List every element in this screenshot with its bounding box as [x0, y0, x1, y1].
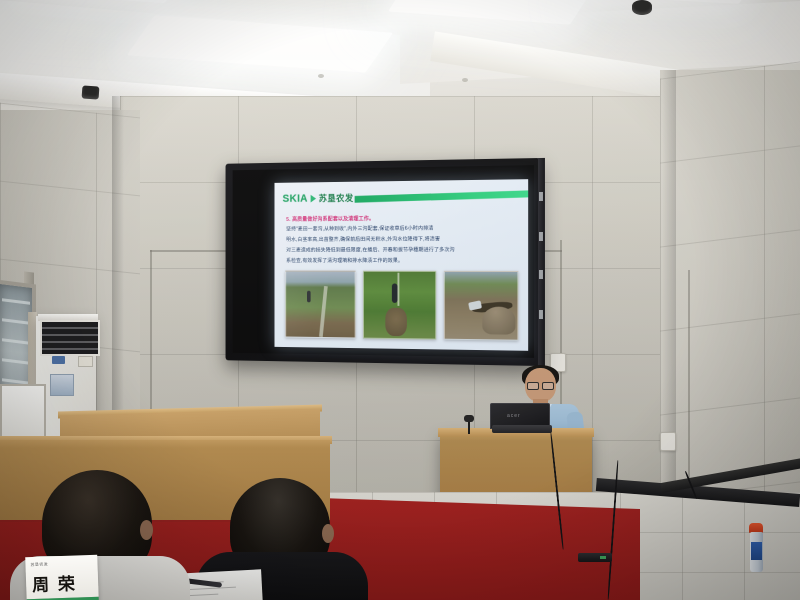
ceiling-fixture-dot [462, 78, 468, 82]
ceiling-fixture-dot [318, 74, 324, 78]
display-edge-highlight [539, 232, 543, 241]
ceiling-speaker-icon [82, 85, 100, 99]
name-card-name: 周 荣 [32, 569, 78, 596]
whiteboard-panel [0, 384, 46, 444]
laptop-keyboard[interactable] [492, 425, 552, 433]
display-edge-highlight [539, 270, 543, 279]
name-card: 苏垦农发 周 荣 [25, 555, 99, 600]
air-conditioner-control-panel[interactable] [50, 374, 74, 396]
microphone-icon [464, 415, 474, 422]
glasses-icon [527, 382, 554, 388]
presentation-display[interactable]: SKIA 苏垦农发 5. 高质量做好沟系配套以及清理工作。 坚持"麦田一套沟,从… [226, 158, 540, 366]
laptop-brand-label: acer [507, 413, 521, 419]
display-edge-highlight [539, 192, 543, 201]
power-strip[interactable] [578, 553, 612, 562]
air-conditioner-vent [40, 320, 100, 356]
audience-member-ear [140, 520, 153, 540]
display-bezel-edge [538, 158, 545, 366]
presentation-slide: SKIA 苏垦农发 5. 高质量做好沟系配套以及清理工作。 坚持"麦田一套沟,从… [274, 179, 528, 351]
air-conditioner-badge [52, 356, 65, 364]
wall-socket[interactable] [660, 432, 676, 451]
wall-conduit [688, 270, 690, 480]
display-screen: SKIA 苏垦农发 5. 高质量做好沟系配套以及清理工作。 坚持"麦田一套沟,从… [233, 165, 534, 358]
conference-room-photo: SKIA 苏垦农发 5. 高质量做好沟系配套以及清理工作。 坚持"麦田一套沟,从… [0, 0, 800, 600]
screen-glare [274, 179, 528, 351]
air-conditioner-sticker [78, 356, 93, 367]
wall-conduit [150, 250, 152, 435]
ceiling-speaker-icon [632, 0, 652, 15]
display-edge-highlight [539, 310, 543, 319]
ceiling-light-panel [593, 0, 756, 4]
wall-corner-shadow [662, 70, 676, 530]
spray-bottle-label [751, 542, 762, 560]
microphone-stem [468, 420, 470, 434]
ceiling-light-panel [22, 0, 188, 3]
name-card-org: 苏垦农发 [30, 561, 48, 568]
audience-member-ear [322, 524, 334, 543]
